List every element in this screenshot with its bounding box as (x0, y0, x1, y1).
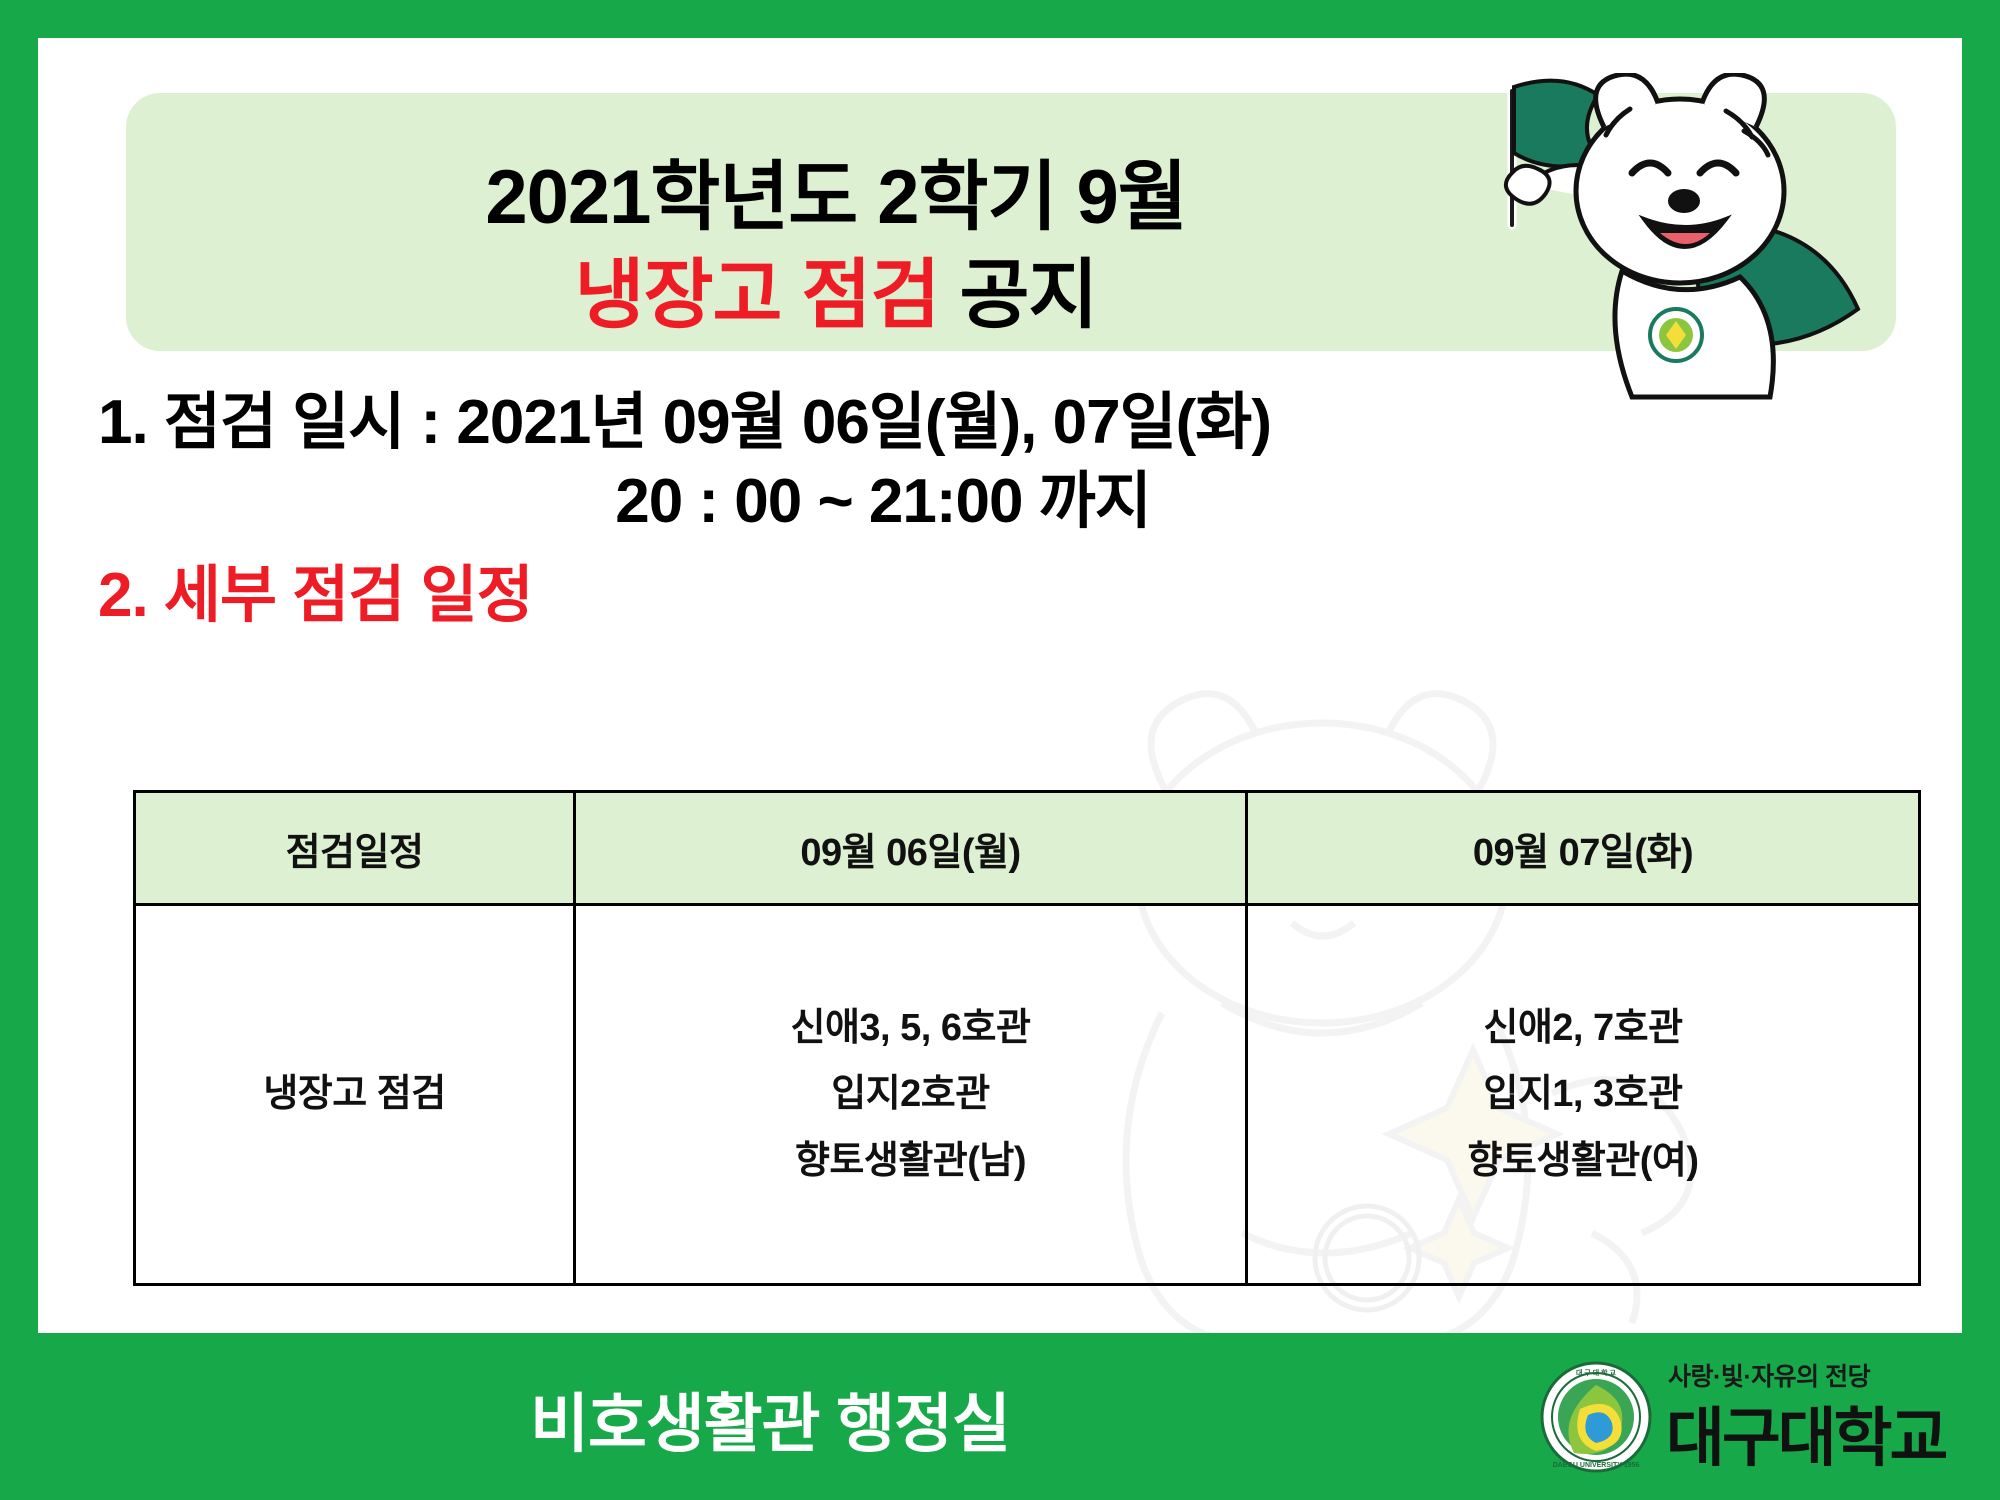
schedule-table: 점검일정 09월 06일(월) 09월 07일(화) 냉장고 점검 신애3, 5… (133, 790, 1921, 1286)
table-header-row: 점검일정 09월 06일(월) 09월 07일(화) (135, 792, 1920, 905)
building-line: 향토생활관(여) (1249, 1128, 1917, 1195)
university-emblem-icon: 대 구 대 학 교 DAEGU UNIVERSITY 1956 (1540, 1361, 1652, 1473)
notice-item-1: 1. 점검 일시 : 2021년 09월 06일(월), 07일(화) (98, 383, 1898, 462)
building-line: 입지1, 3호관 (1249, 1061, 1917, 1128)
university-logo: 대 구 대 학 교 DAEGU UNIVERSITY 1956 사랑·빛·자유의… (1540, 1351, 1960, 1483)
title-line-1: 2021학년도 2학기 9월 (126, 135, 1546, 245)
table-cell-tuesday-buildings: 신애2, 7호관 입지1, 3호관 향토생활관(여) (1247, 905, 1920, 1285)
building-line: 신애2, 7호관 (1249, 995, 1917, 1062)
building-line: 향토생활관(남) (577, 1128, 1244, 1195)
table-cell-row-label: 냉장고 점검 (135, 905, 575, 1285)
university-name: 대구대학교 (1666, 1387, 1945, 1479)
schedule-table-wrap: 점검일정 09월 06일(월) 09월 07일(화) 냉장고 점검 신애3, 5… (133, 790, 1918, 1286)
poster-page: 2021학년도 2학기 9월 냉장고 점검 공지 (38, 38, 1962, 1333)
notice-item-2: 2. 세부 점검 일정 (98, 556, 1898, 635)
title-banner: 2021학년도 2학기 9월 냉장고 점검 공지 (126, 93, 1896, 351)
poster-footer: 비호생활관 행정실 대 구 대 학 교 DAEGU UNIVERSITY 195… (0, 1333, 2000, 1500)
table-cell-monday-buildings: 신애3, 5, 6호관 입지2호관 향토생활관(남) (575, 905, 1247, 1285)
table-row: 냉장고 점검 신애3, 5, 6호관 입지2호관 향토생활관(남) 신애2, 7… (135, 905, 1920, 1285)
poster-root: 2021학년도 2학기 9월 냉장고 점검 공지 (0, 0, 2000, 1500)
svg-text:DAEGU UNIVERSITY 1956: DAEGU UNIVERSITY 1956 (1553, 1462, 1640, 1469)
building-line: 입지2호관 (577, 1061, 1244, 1128)
table-header-cell-tuesday: 09월 07일(화) (1247, 792, 1920, 905)
title-line-2: 냉장고 점검 공지 (126, 233, 1546, 343)
table-header-cell-schedule: 점검일정 (135, 792, 575, 905)
notice-body: 1. 점검 일시 : 2021년 09월 06일(월), 07일(화) 20 :… (98, 383, 1898, 635)
table-header-cell-monday: 09월 06일(월) (575, 792, 1247, 905)
footer-office-name: 비호생활관 행정실 (0, 1373, 1540, 1465)
building-line: 신애3, 5, 6호관 (577, 995, 1244, 1062)
notice-item-1-time: 20 : 00 ~ 21:00 까지 (98, 462, 1898, 541)
title-highlight: 냉장고 점검 (575, 253, 940, 338)
title-suffix: 공지 (939, 253, 1097, 338)
svg-text:대 구 대 학 교: 대 구 대 학 교 (1576, 1368, 1617, 1377)
